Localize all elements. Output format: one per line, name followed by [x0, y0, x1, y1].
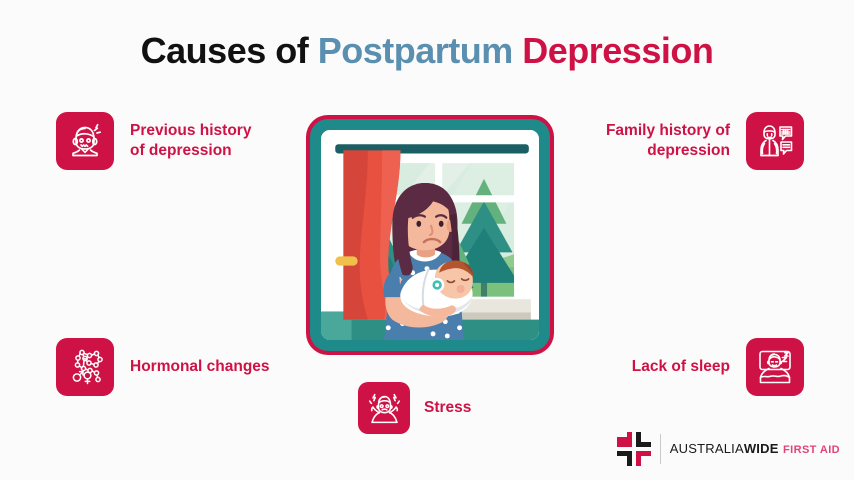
badge-stress — [358, 382, 410, 434]
title-segment-causes-of: Causes of — [141, 30, 318, 71]
cause-item-stress: Stress — [358, 382, 471, 434]
cause-item-lack-of-sleep: Lack of sleep — [632, 338, 804, 396]
badge-previous-history — [56, 112, 114, 170]
illustration-frame — [306, 115, 554, 355]
badge-hormonal-changes — [56, 338, 114, 396]
cause-item-hormonal-changes: Hormonal changes — [56, 338, 270, 396]
cause-label-stress: Stress — [424, 398, 471, 418]
title-segment-depression: Depression — [522, 30, 713, 71]
molecule-gender-symbols-icon — [65, 347, 105, 387]
cause-label-previous-history: Previous history of depression — [130, 121, 251, 161]
logo-wordmark: AUSTRALIAWIDE FIRST AID — [670, 441, 840, 457]
cause-item-previous-history: Previous history of depression — [56, 112, 251, 170]
brand-logo: AUSTRALIAWIDE FIRST AID — [617, 432, 840, 466]
sleeping-person-zzz-icon — [755, 347, 795, 387]
logo-line-first-aid: FIRST AID — [783, 444, 840, 456]
title-segment-postpartum: Postpartum — [318, 30, 523, 71]
logo-word-australia: AUSTRALIA — [670, 441, 744, 456]
mother-holding-baby-by-window — [321, 130, 539, 340]
stressed-person-lightning-icon — [366, 390, 403, 427]
sad-woman-face-icon — [65, 121, 105, 161]
cause-label-family-history: Family history of depression — [606, 121, 730, 161]
badge-family-history — [746, 112, 804, 170]
family-speech-bubbles-icon — [755, 121, 795, 161]
cause-label-lack-of-sleep: Lack of sleep — [632, 357, 730, 377]
cause-item-family-history: Family history of depression — [606, 112, 804, 170]
page-title: Causes of Postpartum Depression — [0, 30, 854, 72]
cross-logo-icon — [617, 432, 651, 466]
logo-line-australiawide: AUSTRALIAWIDE — [670, 441, 779, 456]
logo-word-wide: WIDE — [744, 441, 779, 456]
illustration-inner-frame — [310, 119, 550, 351]
logo-divider — [660, 434, 661, 464]
cause-label-hormonal-changes: Hormonal changes — [130, 357, 270, 377]
badge-lack-of-sleep — [746, 338, 804, 396]
